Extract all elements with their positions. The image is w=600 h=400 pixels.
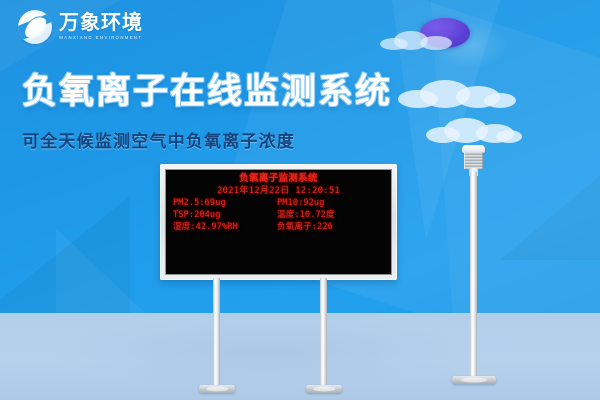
decorative-purple-orb <box>420 18 470 48</box>
sensor-base-plate <box>452 376 496 384</box>
led-reading-temperature: 温度:10.72度 <box>277 210 384 222</box>
globe-swoosh-logo-icon <box>18 10 52 44</box>
page-subtitle: 可全天候监测空气中负氧离子浓度 <box>22 127 295 152</box>
decorative-triangle-left-2 <box>56 228 146 314</box>
led-reading-negative-ions: 负氧离子:226 <box>277 222 384 234</box>
poster-canvas: 万象环境 WANXIANG ENVIRONMENT 负氧离子在线监测系统 可全天… <box>0 0 600 400</box>
billboard-support-pole-right <box>320 278 327 389</box>
brand-logo[interactable]: 万象环境 WANXIANG ENVIRONMENT <box>18 10 143 44</box>
billboard-support-pole-left <box>213 278 220 389</box>
ground-shadow <box>54 318 474 388</box>
led-screen-datetime: 2021年12月22日 12:20:51 <box>173 185 384 197</box>
billboard-base-plate-left <box>199 385 235 393</box>
led-screen-title: 负氧离子监测系统 <box>173 174 384 185</box>
decorative-triangle-right <box>500 150 600 260</box>
led-screen: 负氧离子监测系统 2021年12月22日 12:20:51 PM2.5:69ug… <box>166 170 391 234</box>
billboard-base-plate-right <box>306 385 342 393</box>
brand-logo-text: 万象环境 WANXIANG ENVIRONMENT <box>59 13 143 40</box>
brand-name-en: WANXIANG ENVIRONMENT <box>59 36 145 40</box>
led-reading-row: 湿度:42.97%RH 负氧离子:226 <box>173 222 384 234</box>
led-reading-tsp: TSP:204ug <box>173 210 277 222</box>
sensor-mast-pole <box>470 172 477 379</box>
led-billboard-bezel: 负氧离子监测系统 2021年12月22日 12:20:51 PM2.5:69ug… <box>165 169 392 275</box>
negative-ion-sensor-icon <box>461 145 486 175</box>
led-reading-row: PM2.5:69ug PM10:92ug <box>173 198 384 210</box>
led-reading-humidity: 湿度:42.97%RH <box>173 222 277 234</box>
sensor-body <box>464 152 483 169</box>
brand-name-cn: 万象环境 <box>59 13 143 33</box>
page-title: 负氧离子在线监测系统 <box>22 72 392 111</box>
led-reading-pm25: PM2.5:69ug <box>173 198 277 210</box>
led-reading-row: TSP:204ug 温度:10.72度 <box>173 210 384 222</box>
led-reading-pm10: PM10:92ug <box>277 198 384 210</box>
led-readings: PM2.5:69ug PM10:92ug TSP:204ug 温度:10.72度… <box>173 198 384 234</box>
led-billboard[interactable]: 负氧离子监测系统 2021年12月22日 12:20:51 PM2.5:69ug… <box>160 164 397 280</box>
